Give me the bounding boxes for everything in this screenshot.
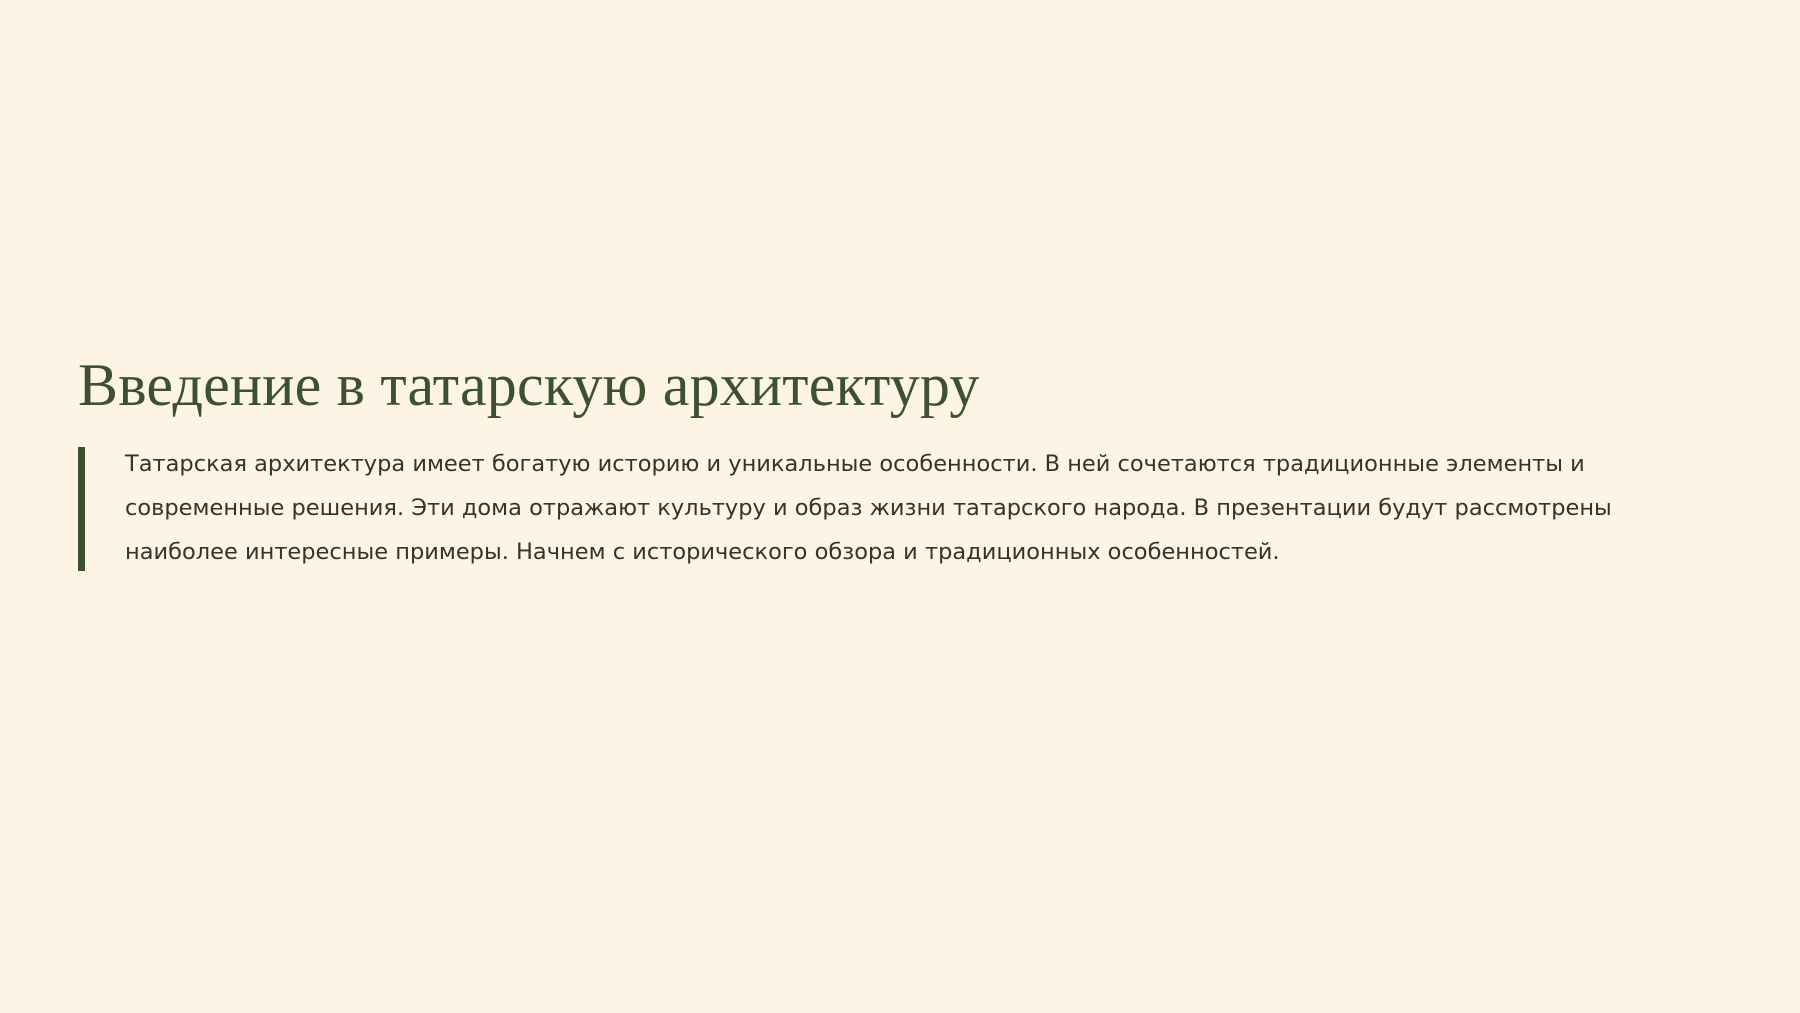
page-title: Введение в татарскую архитектуру [78,352,1738,419]
body-block: Татарская архитектура имеет богатую исто… [78,443,1738,575]
body-paragraph: Татарская архитектура имеет богатую исто… [85,443,1720,575]
slide-content: Введение в татарскую архитектуру Татарск… [78,352,1738,575]
presentation-slide: Введение в татарскую архитектуру Татарск… [0,0,1800,1013]
accent-bar [78,447,85,571]
